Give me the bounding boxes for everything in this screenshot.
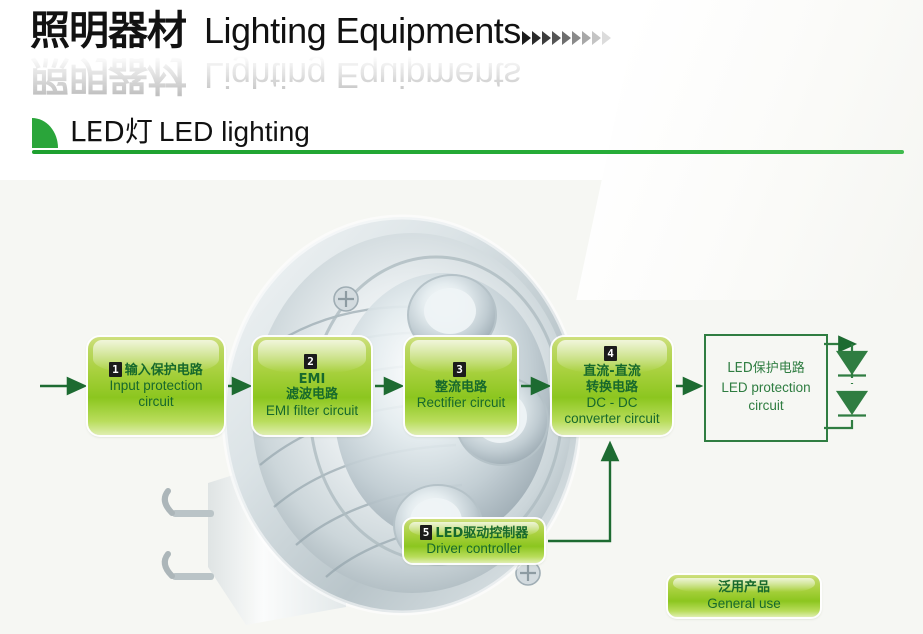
flow-block-4-en-1: DC - DC xyxy=(587,395,638,411)
flow-block-1-cn: 1输入保护电路 xyxy=(109,362,203,378)
flow-block-2-badge: 2 xyxy=(304,353,320,372)
flow-block-3-en-1: Rectifier circuit xyxy=(417,395,506,411)
label-general-use[interactable]: 泛用产品 General use xyxy=(668,575,820,617)
general-use-cn: 泛用产品 xyxy=(718,580,770,595)
step-number-badge: 2 xyxy=(304,354,317,369)
flow-block-input-protection[interactable]: 1输入保护电路 Input protection circuit xyxy=(88,337,224,435)
flow-block-1-en-2: circuit xyxy=(138,394,173,410)
flow-block-4-badge: 4 xyxy=(604,345,620,364)
flow-block-3-cn-1: 整流电路 xyxy=(435,380,487,395)
flow-block-dc-dc-converter[interactable]: 4 直流-直流 转换电路 DC - DC converter circuit xyxy=(552,337,672,435)
led-protection-en-2: circuit xyxy=(748,397,783,416)
flow-diagram: 1输入保护电路 Input protection circuit 2 EMI 滤… xyxy=(0,0,923,634)
step-number-badge: 3 xyxy=(453,362,466,377)
flow-block-1-en-1: Input protection xyxy=(109,378,202,394)
step-number-badge: 4 xyxy=(604,346,617,361)
slide-page: 照明器材 Lighting Equipments 照明器材 Lighting E… xyxy=(0,0,923,634)
flow-block-4-cn-2: 转换电路 xyxy=(586,380,638,395)
flow-block-4-cn-1: 直流-直流 xyxy=(583,364,640,379)
general-use-en: General use xyxy=(707,596,781,612)
flow-block-2-en-1: EMI filter circuit xyxy=(266,403,358,419)
flow-block-led-protection[interactable]: LED保护电路 LED protection circuit xyxy=(704,334,828,442)
step-number-badge: 1 xyxy=(109,362,122,377)
flow-block-5-en: Driver controller xyxy=(426,541,521,557)
flow-block-driver-controller[interactable]: 5LED驱动控制器 Driver controller xyxy=(404,519,544,563)
flow-block-rectifier[interactable]: 3 整流电路 Rectifier circuit xyxy=(405,337,517,435)
flow-block-2-cn-2: 滤波电路 xyxy=(286,387,338,402)
flow-block-3-badge: 3 xyxy=(453,361,469,380)
led-protection-cn: LED保护电路 xyxy=(727,360,804,379)
flow-block-emi-filter[interactable]: 2 EMI 滤波电路 EMI filter circuit xyxy=(253,337,371,435)
flow-block-5-cn: 5LED驱动控制器 xyxy=(420,525,529,541)
flow-block-2-cn-1: EMI xyxy=(299,372,326,387)
step-number-badge: 5 xyxy=(420,525,433,540)
led-protection-en-1: LED protection xyxy=(721,379,810,398)
flow-block-4-en-2: converter circuit xyxy=(564,411,659,427)
